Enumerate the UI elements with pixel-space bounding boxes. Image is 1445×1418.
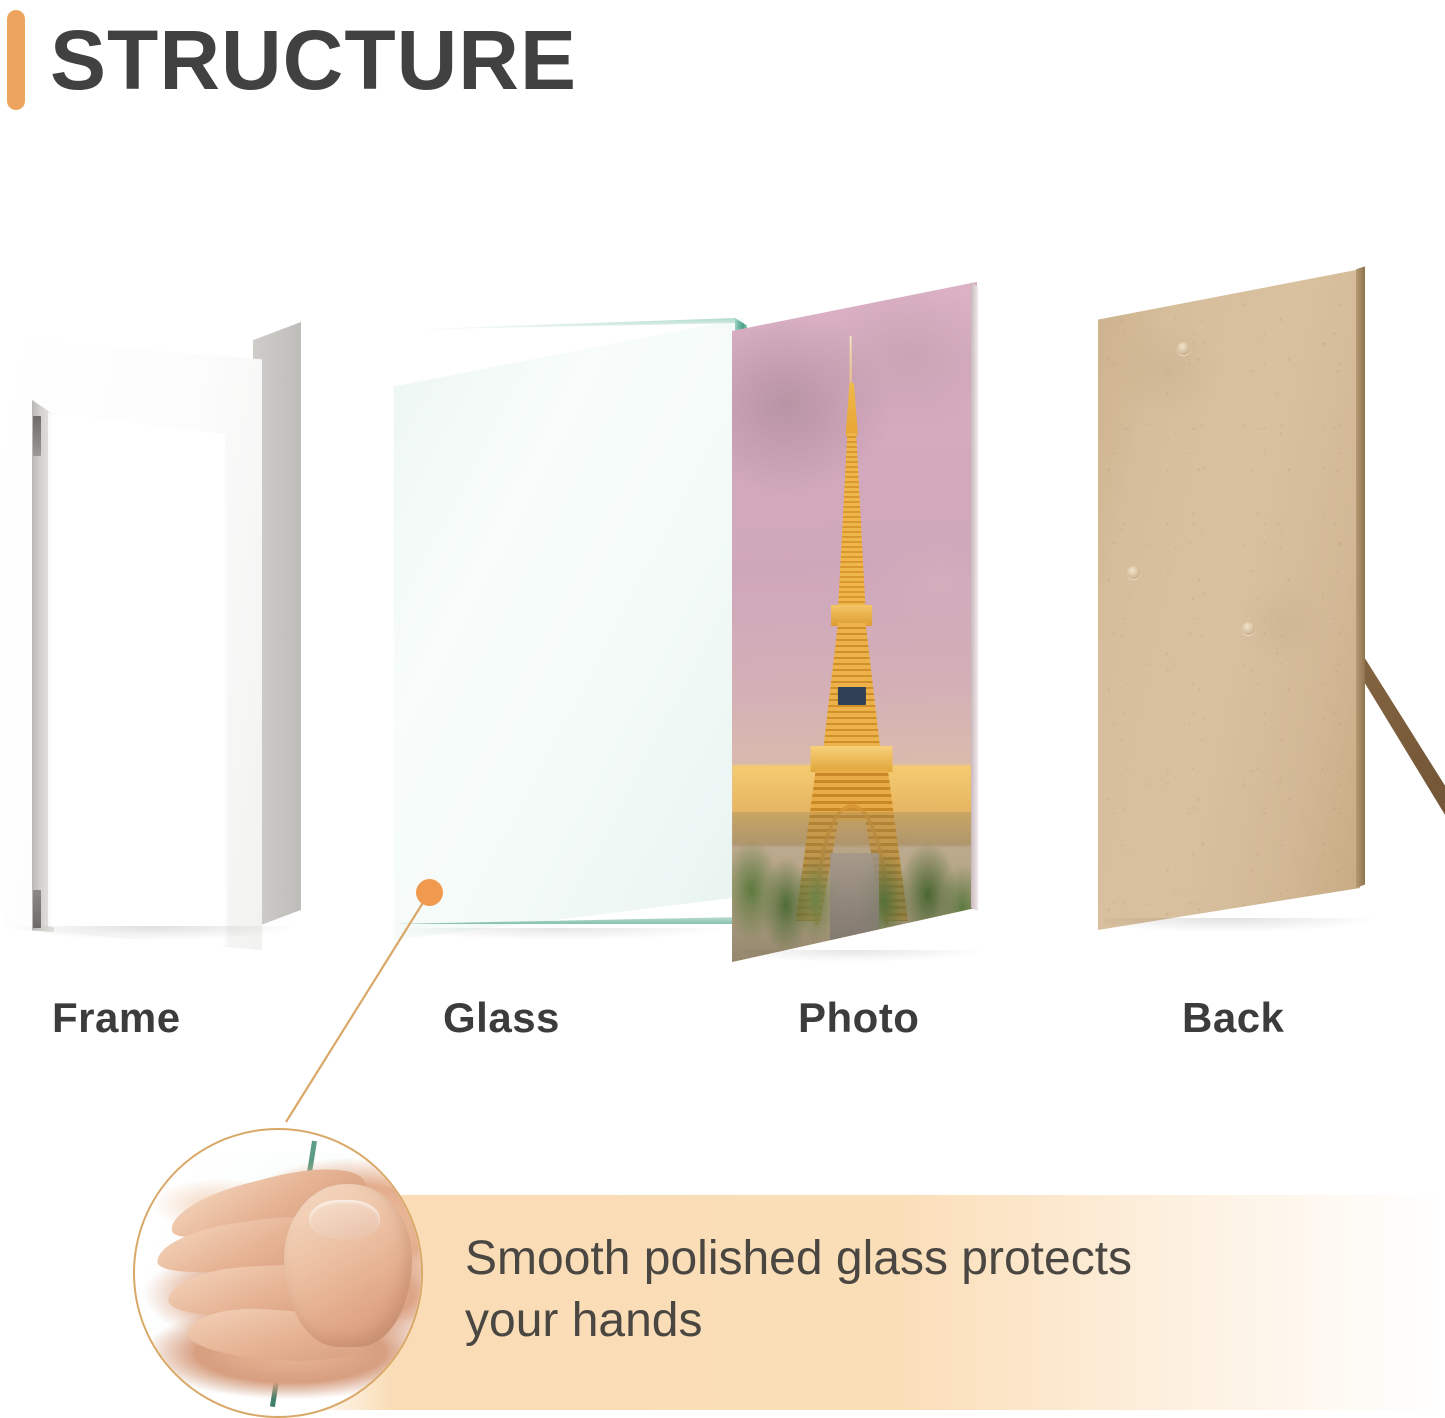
caption-line-1: Smooth polished glass protects: [465, 1228, 1325, 1290]
part-label-back: Back: [1182, 994, 1284, 1042]
photo-print-image: [732, 282, 977, 962]
tower-top-section: [846, 383, 858, 436]
back-board-face: [1098, 230, 1360, 930]
glass-top-bevel: [392, 318, 736, 330]
back-board-side-edge: [1356, 230, 1365, 930]
caption-text: Smooth polished glass protects your hand…: [465, 1228, 1325, 1352]
back-board-dimple: [1242, 622, 1255, 635]
frame-clip-top-icon: [33, 416, 41, 456]
part-label-photo: Photo: [798, 994, 919, 1042]
callout-thumbnail: [309, 1200, 379, 1239]
part-photo: [700, 260, 1000, 960]
photo-drop-shadow: [744, 950, 984, 962]
frame-opening: [48, 412, 228, 950]
frame-front-face: [4, 338, 262, 950]
frame-clip-bottom-icon: [33, 890, 41, 928]
tower-first-deck: [811, 746, 893, 772]
page-title: STRUCTURE: [50, 6, 577, 114]
glass-drop-shadow: [400, 928, 730, 940]
glass-front-face: [392, 318, 744, 940]
frame-drop-shadow: [10, 926, 295, 940]
part-frame: [0, 300, 330, 960]
hand-holding-glass-icon: [135, 1130, 421, 1416]
back-board-dimple: [1177, 342, 1190, 355]
back-board-dimple: [1127, 566, 1140, 579]
part-glass: [380, 300, 680, 960]
photo-avenue: [830, 853, 879, 962]
back-drop-shadow: [1104, 918, 1374, 932]
caption-line-2: your hands: [465, 1290, 1325, 1352]
infographic-canvas: STRUCTURE Frame Glass: [0, 0, 1445, 1414]
page-header: STRUCTURE: [0, 0, 1445, 140]
tower-upper-section: [838, 433, 865, 608]
accent-bar-icon: [7, 10, 25, 110]
part-back: [1060, 200, 1445, 960]
callout-hand: [135, 1147, 421, 1410]
back-board-texture: [1098, 230, 1360, 930]
glass-detail-callout[interactable]: [133, 1128, 423, 1418]
tower-spire: [849, 336, 851, 389]
photo-side-edge: [971, 282, 978, 962]
tower-sign-plaque: [838, 687, 865, 705]
part-label-frame: Frame: [52, 994, 181, 1042]
part-label-glass: Glass: [443, 994, 560, 1042]
glass-hotspot-marker[interactable]: [416, 879, 443, 906]
